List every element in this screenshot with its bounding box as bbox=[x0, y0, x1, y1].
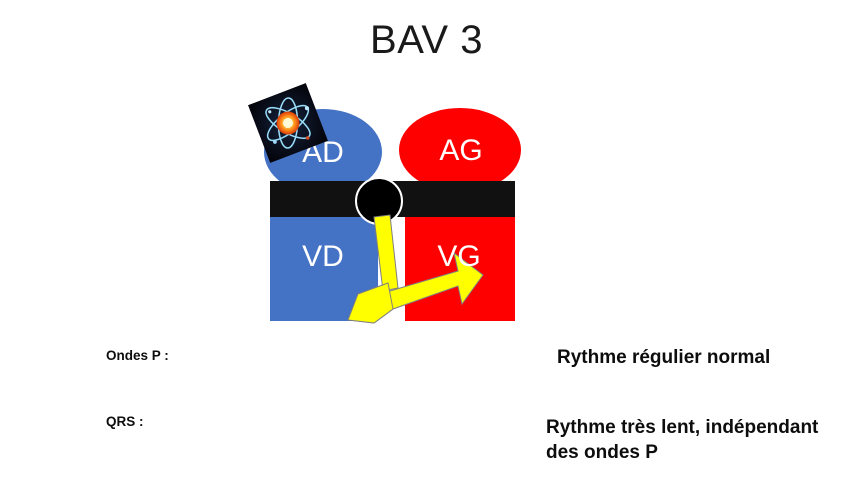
chamber-label-vg: VG bbox=[430, 242, 488, 272]
findings-label-ondes-p: Ondes P : bbox=[106, 348, 169, 365]
chamber-label-ag: AG bbox=[432, 136, 490, 166]
findings-value-qrs: Rythme très lent, indépendant des ondes … bbox=[546, 415, 836, 465]
chamber-label-vd: VD bbox=[294, 242, 352, 272]
findings-label-qrs: QRS : bbox=[106, 414, 144, 431]
findings-value-ondes-p: Rythme régulier normal bbox=[557, 345, 770, 370]
page-title: BAV 3 bbox=[0, 18, 853, 62]
